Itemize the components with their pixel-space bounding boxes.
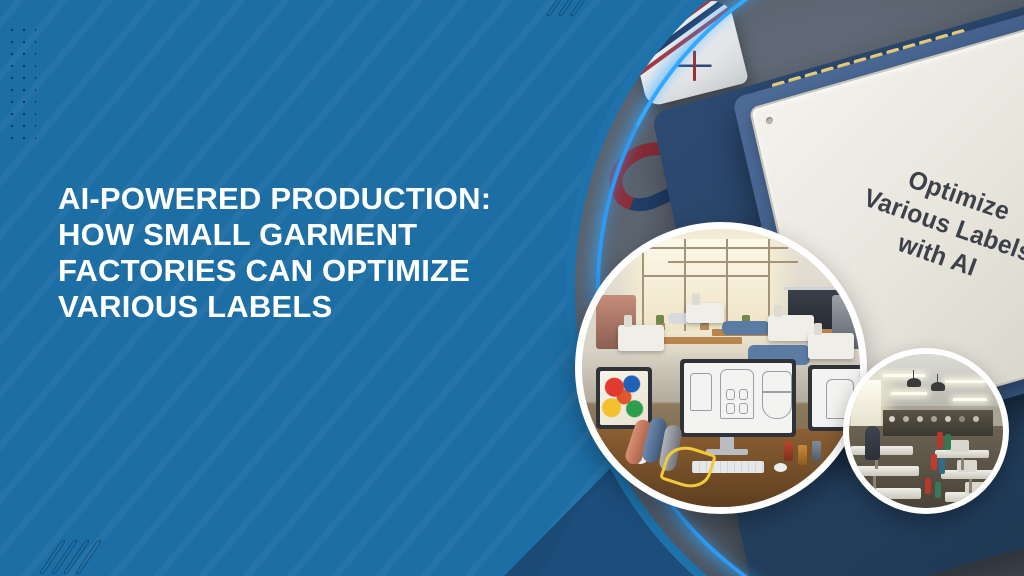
table-leg (873, 476, 876, 492)
ceiling-light (945, 380, 985, 383)
pendant-lamp-icon (931, 382, 945, 391)
fabric-bolt (945, 416, 951, 422)
thread-spool (812, 441, 821, 461)
jacket-pocket (739, 403, 748, 414)
table-leg (969, 479, 972, 493)
fabric-motif (678, 51, 712, 81)
cutting-table (851, 446, 913, 455)
banner-graphic: AI-Powered Production: How Small Garment… (0, 0, 1024, 576)
ceiling-beam (628, 247, 788, 249)
fabric-bolt (917, 416, 923, 422)
ceiling-light (883, 374, 925, 377)
thread-cone (937, 432, 943, 448)
sewing-machine (686, 303, 724, 323)
monitor-sketch-main (680, 359, 796, 437)
sewing-machine (965, 482, 985, 494)
garment-sketch (690, 373, 712, 411)
photo-design-studio (575, 222, 867, 514)
chip-screw-icon (765, 116, 773, 125)
cutting-table (845, 488, 921, 499)
thread-cone (935, 482, 941, 498)
thread-cone (939, 458, 945, 474)
plant-icon (656, 315, 664, 324)
sewing-machine (618, 325, 664, 351)
photo-factory-floor (843, 348, 1009, 514)
pendant-lamp-icon (907, 378, 921, 387)
fabric-bolt (889, 416, 895, 422)
denim-pile (722, 321, 770, 335)
ceiling-light (953, 398, 987, 401)
cutting-table (849, 466, 919, 476)
fabric-bolt (903, 416, 909, 422)
page-title: AI-Powered Production: How Small Garment… (58, 181, 528, 325)
window-mullion (642, 239, 644, 331)
thread-cone (945, 434, 951, 450)
diagonal-stripes-icon (50, 540, 91, 574)
monitor-screen (684, 363, 792, 433)
dress-belt (762, 391, 792, 393)
jacket-pocket (726, 389, 735, 400)
ceiling-light (891, 392, 927, 395)
sewing-machine (808, 333, 854, 359)
window-mullion (726, 239, 728, 331)
thread-cone (931, 454, 937, 470)
ceiling-beam (668, 261, 798, 263)
fabric-bolt (973, 416, 979, 422)
sewing-machine (949, 440, 969, 452)
pattern-artwork (600, 371, 648, 425)
diagonal-stripes-icon (556, 0, 585, 16)
plant-pot (700, 323, 709, 330)
thread-spool (784, 441, 793, 461)
table-leg (961, 458, 964, 470)
garment-sketch-dress (762, 371, 792, 419)
mouse (774, 463, 787, 472)
window-mullion (642, 275, 770, 277)
fabric-bolt (959, 416, 965, 422)
dot-grid-icon (6, 24, 36, 142)
fabric-bolt (931, 416, 937, 422)
thread-spool (798, 445, 807, 465)
rack-bar (784, 287, 854, 290)
thread-cone (925, 478, 931, 494)
jacket-pocket (726, 403, 735, 414)
dress-form-mannequin (865, 426, 880, 460)
sewing-machine (957, 460, 977, 472)
monitor-screen (600, 371, 648, 425)
jacket-pocket (739, 389, 748, 400)
